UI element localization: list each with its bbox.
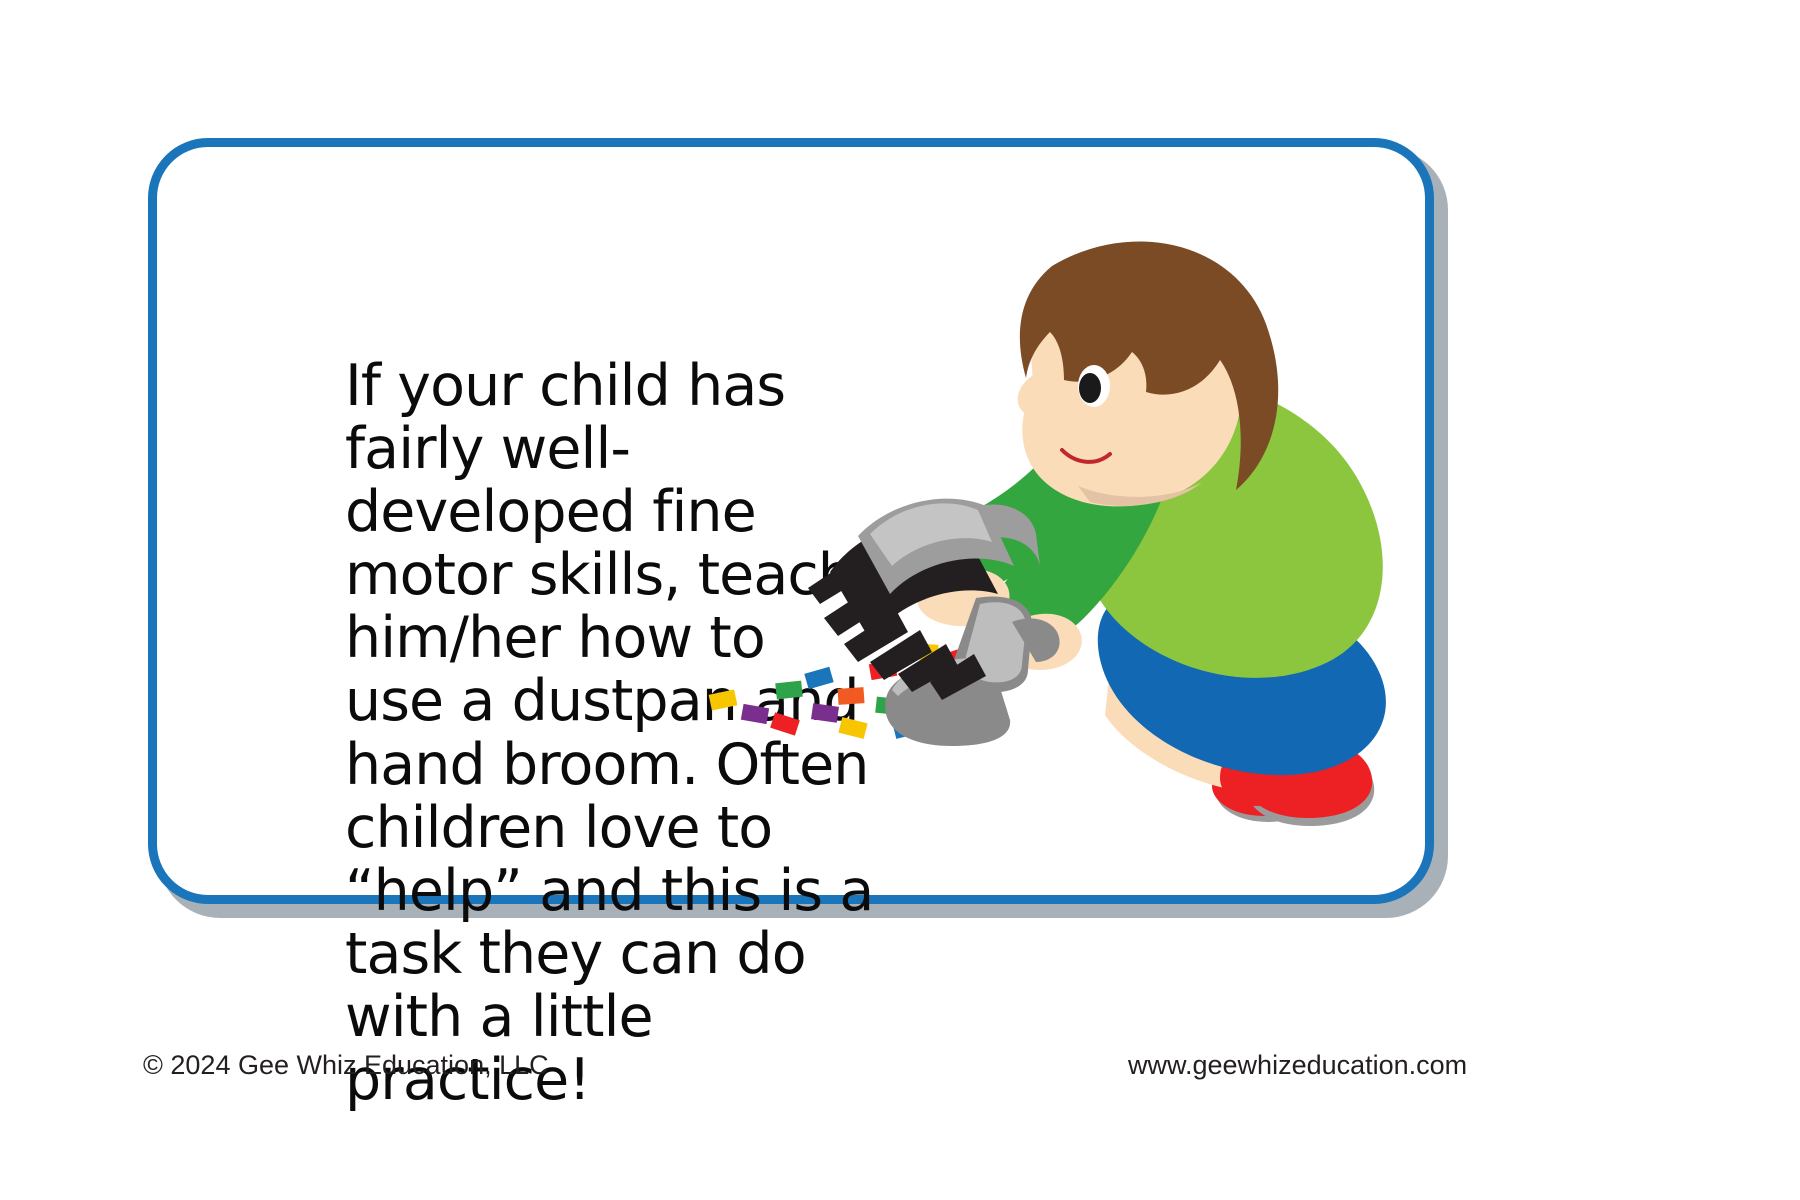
confetti-piece [804, 667, 833, 690]
confetti-piece [770, 712, 800, 735]
confetti-piece [741, 704, 769, 724]
illustration-child-sweeping [680, 200, 1440, 900]
website-url: www.geewhizeducation.com [1128, 1050, 1467, 1081]
slide-canvas: If your child has fairly well-developed … [0, 0, 1800, 1200]
copyright-notice: © 2024 Gee Whiz Education, LLC [143, 1050, 549, 1081]
confetti-piece [775, 681, 803, 700]
confetti-piece [709, 689, 738, 710]
confetti-piece [838, 717, 867, 739]
confetti-piece [811, 703, 839, 722]
eye-pupil [1079, 373, 1101, 403]
confetti-piece [837, 687, 864, 705]
